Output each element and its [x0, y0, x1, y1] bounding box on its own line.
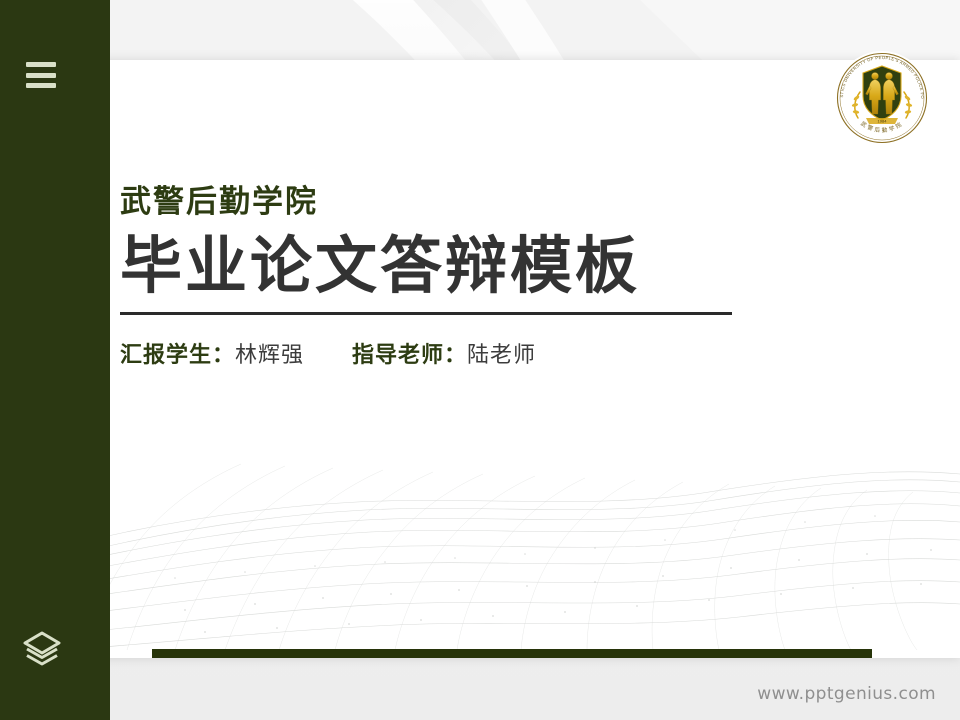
left-rail: [0, 0, 110, 720]
title-divider: [120, 312, 732, 315]
student-name: 林辉强: [235, 337, 304, 369]
page-title: 毕业论文答辩模板: [120, 231, 840, 300]
hamburger-menu-icon[interactable]: [26, 62, 56, 88]
advisor-label: 指导老师：: [352, 337, 467, 369]
watermark-url: www.pptgenius.com: [757, 684, 936, 704]
advisor-name: 陆老师: [467, 337, 536, 369]
presenter-meta: 汇报学生：林辉强 指导老师：陆老师: [120, 337, 840, 369]
student-label: 汇报学生：: [120, 337, 235, 369]
title-block: 武警后勤学院 毕业论文答辩模板 汇报学生：林辉强 指导老师：陆老师: [120, 185, 840, 369]
wireframe-mesh-graphic: [65, 460, 960, 650]
layers-stack-icon[interactable]: [18, 624, 66, 672]
slide-stage: LOGISTICS UNIVERSITY OF PEOPLE'S ARMED P…: [0, 0, 960, 720]
emblem-year: 1984: [878, 119, 888, 124]
school-name: 武警后勤学院: [120, 185, 840, 221]
bottom-accent-bar: [152, 649, 872, 658]
university-emblem: LOGISTICS UNIVERSITY OF PEOPLE'S ARMED P…: [832, 48, 932, 148]
